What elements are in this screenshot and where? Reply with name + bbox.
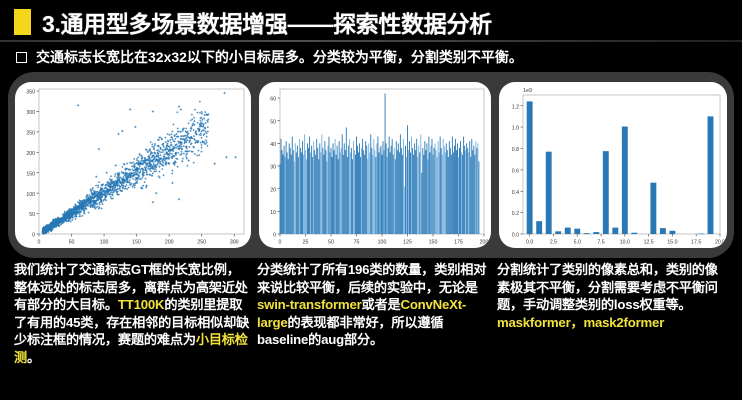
svg-text:200: 200 — [165, 240, 174, 246]
title-marker-icon — [14, 9, 31, 35]
charts-container: 050100150200250300050100150200250300350 … — [8, 72, 734, 258]
captions-row: 我们统计了交通标志GT框的长宽比例，整体远处的标志居多，离群点为高架近处有部分的… — [0, 261, 742, 400]
svg-text:150: 150 — [132, 240, 141, 246]
caption-segment: maskformer，mask2former — [497, 315, 664, 330]
svg-text:300: 300 — [26, 110, 35, 116]
svg-text:350: 350 — [26, 90, 35, 96]
caption-middle: 分类统计了所有196类的数量，类别相对来说比较平衡，后续的实验中，无论是swin… — [257, 261, 489, 349]
scatter-plot-aspect-ratio: 050100150200250300050100150200250300350 — [15, 82, 251, 248]
caption-left: 我们统计了交通标志GT框的长宽比例，整体远处的标志居多，离群点为高架近处有部分的… — [14, 261, 250, 367]
slide-title-bar: 3.通用型多场景数据增强——探索性数据分析 — [0, 4, 742, 40]
caption-segment: 。 — [27, 350, 40, 365]
svg-text:250: 250 — [197, 240, 206, 246]
caption-right: 分割统计了类别的像素总和，类别的像素极其不平衡，分割需要考虑不平衡问题，手动调整… — [497, 261, 729, 331]
chart-card-class-counts: 02550751001251501752000102030405060 — [259, 82, 491, 248]
y-axis-exponent-label: 1e9 — [523, 88, 532, 94]
subtitle-text: 交通标志长宽比在32x32以下的小目标居多。分类较为平衡，分割类别不平衡。 — [36, 47, 523, 67]
svg-text:100: 100 — [26, 192, 35, 198]
svg-text:0: 0 — [32, 233, 35, 239]
svg-text:0: 0 — [38, 240, 41, 246]
svg-text:50: 50 — [69, 240, 75, 246]
caption-segment: swin-transformer — [257, 297, 362, 312]
svg-text:150: 150 — [26, 171, 35, 177]
title-divider — [0, 40, 742, 42]
chart-card-pixel-sums: 0.02.55.07.510.012.515.017.520.00.00.20.… — [499, 82, 727, 248]
caption-segment: 分割统计了类别的像素总和，类别的像素极其不平衡，分割需要考虑不平衡问题，手动调整… — [497, 262, 718, 312]
bar-chart-class-counts: 02550751001251501752000102030405060 — [259, 82, 491, 248]
caption-segment: 或者是 — [362, 297, 401, 312]
svg-text:250: 250 — [26, 130, 35, 136]
svg-text:200: 200 — [26, 151, 35, 157]
subtitle-row: 交通标志长宽比在32x32以下的小目标居多。分类较为平衡，分割类别不平衡。 — [0, 46, 742, 68]
svg-text:300: 300 — [230, 240, 239, 246]
chart-card-scatter: 050100150200250300050100150200250300350 — [15, 82, 251, 248]
caption-segment: TT100K — [118, 297, 164, 312]
page-title: 3.通用型多场景数据增强——探索性数据分析 — [42, 5, 492, 39]
bullet-square-icon — [16, 52, 27, 63]
caption-segment: 分类统计了所有196类的数量，类别相对来说比较平衡，后续的实验中，无论是 — [257, 262, 486, 295]
svg-text:50: 50 — [29, 212, 35, 218]
svg-text:100: 100 — [100, 240, 109, 246]
bar-chart-pixel-sums: 0.02.55.07.510.012.515.017.520.00.00.20.… — [499, 82, 727, 248]
